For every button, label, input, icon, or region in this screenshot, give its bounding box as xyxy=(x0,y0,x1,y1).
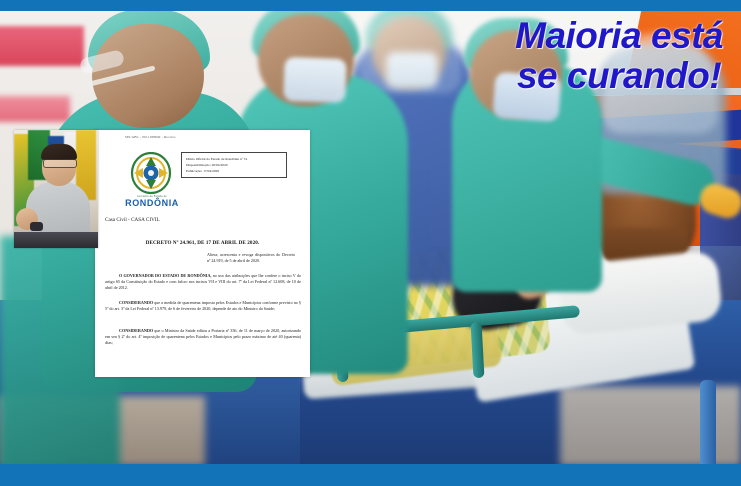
top-accent-bar xyxy=(0,0,741,11)
decree-ementa: Altera, acrescenta e revoga dispositivos… xyxy=(207,252,295,264)
bottom-accent-bar xyxy=(0,464,741,486)
sei-header: SEI/ABC - 0011188849 - Decreto xyxy=(125,135,176,139)
paragraph-1-lead: O GOVERNADOR DO ESTADO DE RONDÔNIA, xyxy=(119,273,211,278)
brasao-rondonia-icon xyxy=(129,152,173,194)
decree-paragraph-1: O GOVERNADOR DO ESTADO DE RONDÔNIA, no u… xyxy=(105,273,301,292)
inset-person-hair xyxy=(41,144,77,160)
inset-desk xyxy=(14,232,98,248)
decree-paragraph-2: CONSIDERANDO que a medida de quarentena … xyxy=(105,300,301,312)
state-name: RONDÔNIA xyxy=(117,198,187,208)
inset-person-glasses xyxy=(43,159,77,168)
photo-red-banner-upper xyxy=(0,26,84,66)
orgao-line: Casa Civil - CASA CIVIL xyxy=(105,217,160,223)
decree-title: DECRETO Nº 24.961, DE 17 DE ABRIL DE 202… xyxy=(95,240,310,246)
decree-document: SEI/ABC - 0011188849 - Decreto Governo d… xyxy=(95,130,310,377)
inset-photo xyxy=(14,130,98,248)
headline-line-2: se curando! xyxy=(515,56,723,96)
inset-person-watch xyxy=(30,222,43,231)
gazette-line-3: Publicação: 17/04/2020 xyxy=(186,168,282,174)
paragraph-2-lead: CONSIDERANDO xyxy=(119,300,153,305)
health-worker-3-face-shield xyxy=(360,10,460,92)
photo-red-banner-lower xyxy=(0,96,70,122)
headline: Maioria está se curando! xyxy=(515,16,723,96)
health-worker-2-mask xyxy=(283,57,346,103)
headline-line-1: Maioria está xyxy=(515,16,723,56)
news-graphic-canvas: Maioria está se curando! SEI/ABC - 00111… xyxy=(0,0,741,486)
decree-paragraph-3: CONSIDERANDO que o Ministro da Saúde edi… xyxy=(105,328,301,347)
gazette-box: Diário Oficial do Estado de Rondônia nº … xyxy=(181,152,287,178)
paragraph-3-lead: CONSIDERANDO xyxy=(119,328,153,333)
